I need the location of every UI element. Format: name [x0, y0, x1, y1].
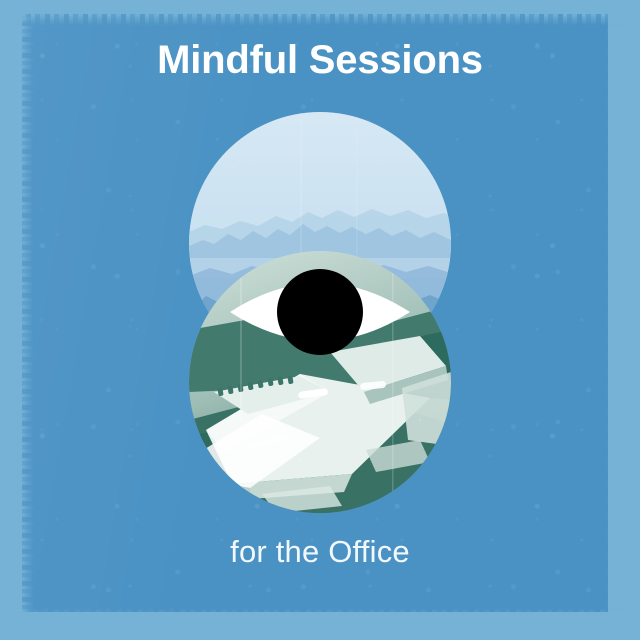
page-title: Mindful Sessions — [0, 40, 640, 80]
album-cover-poster: Mindful Sessions for the Office — [0, 0, 640, 640]
eye-pupil — [277, 269, 363, 355]
page-subtitle: for the Office — [0, 536, 640, 567]
